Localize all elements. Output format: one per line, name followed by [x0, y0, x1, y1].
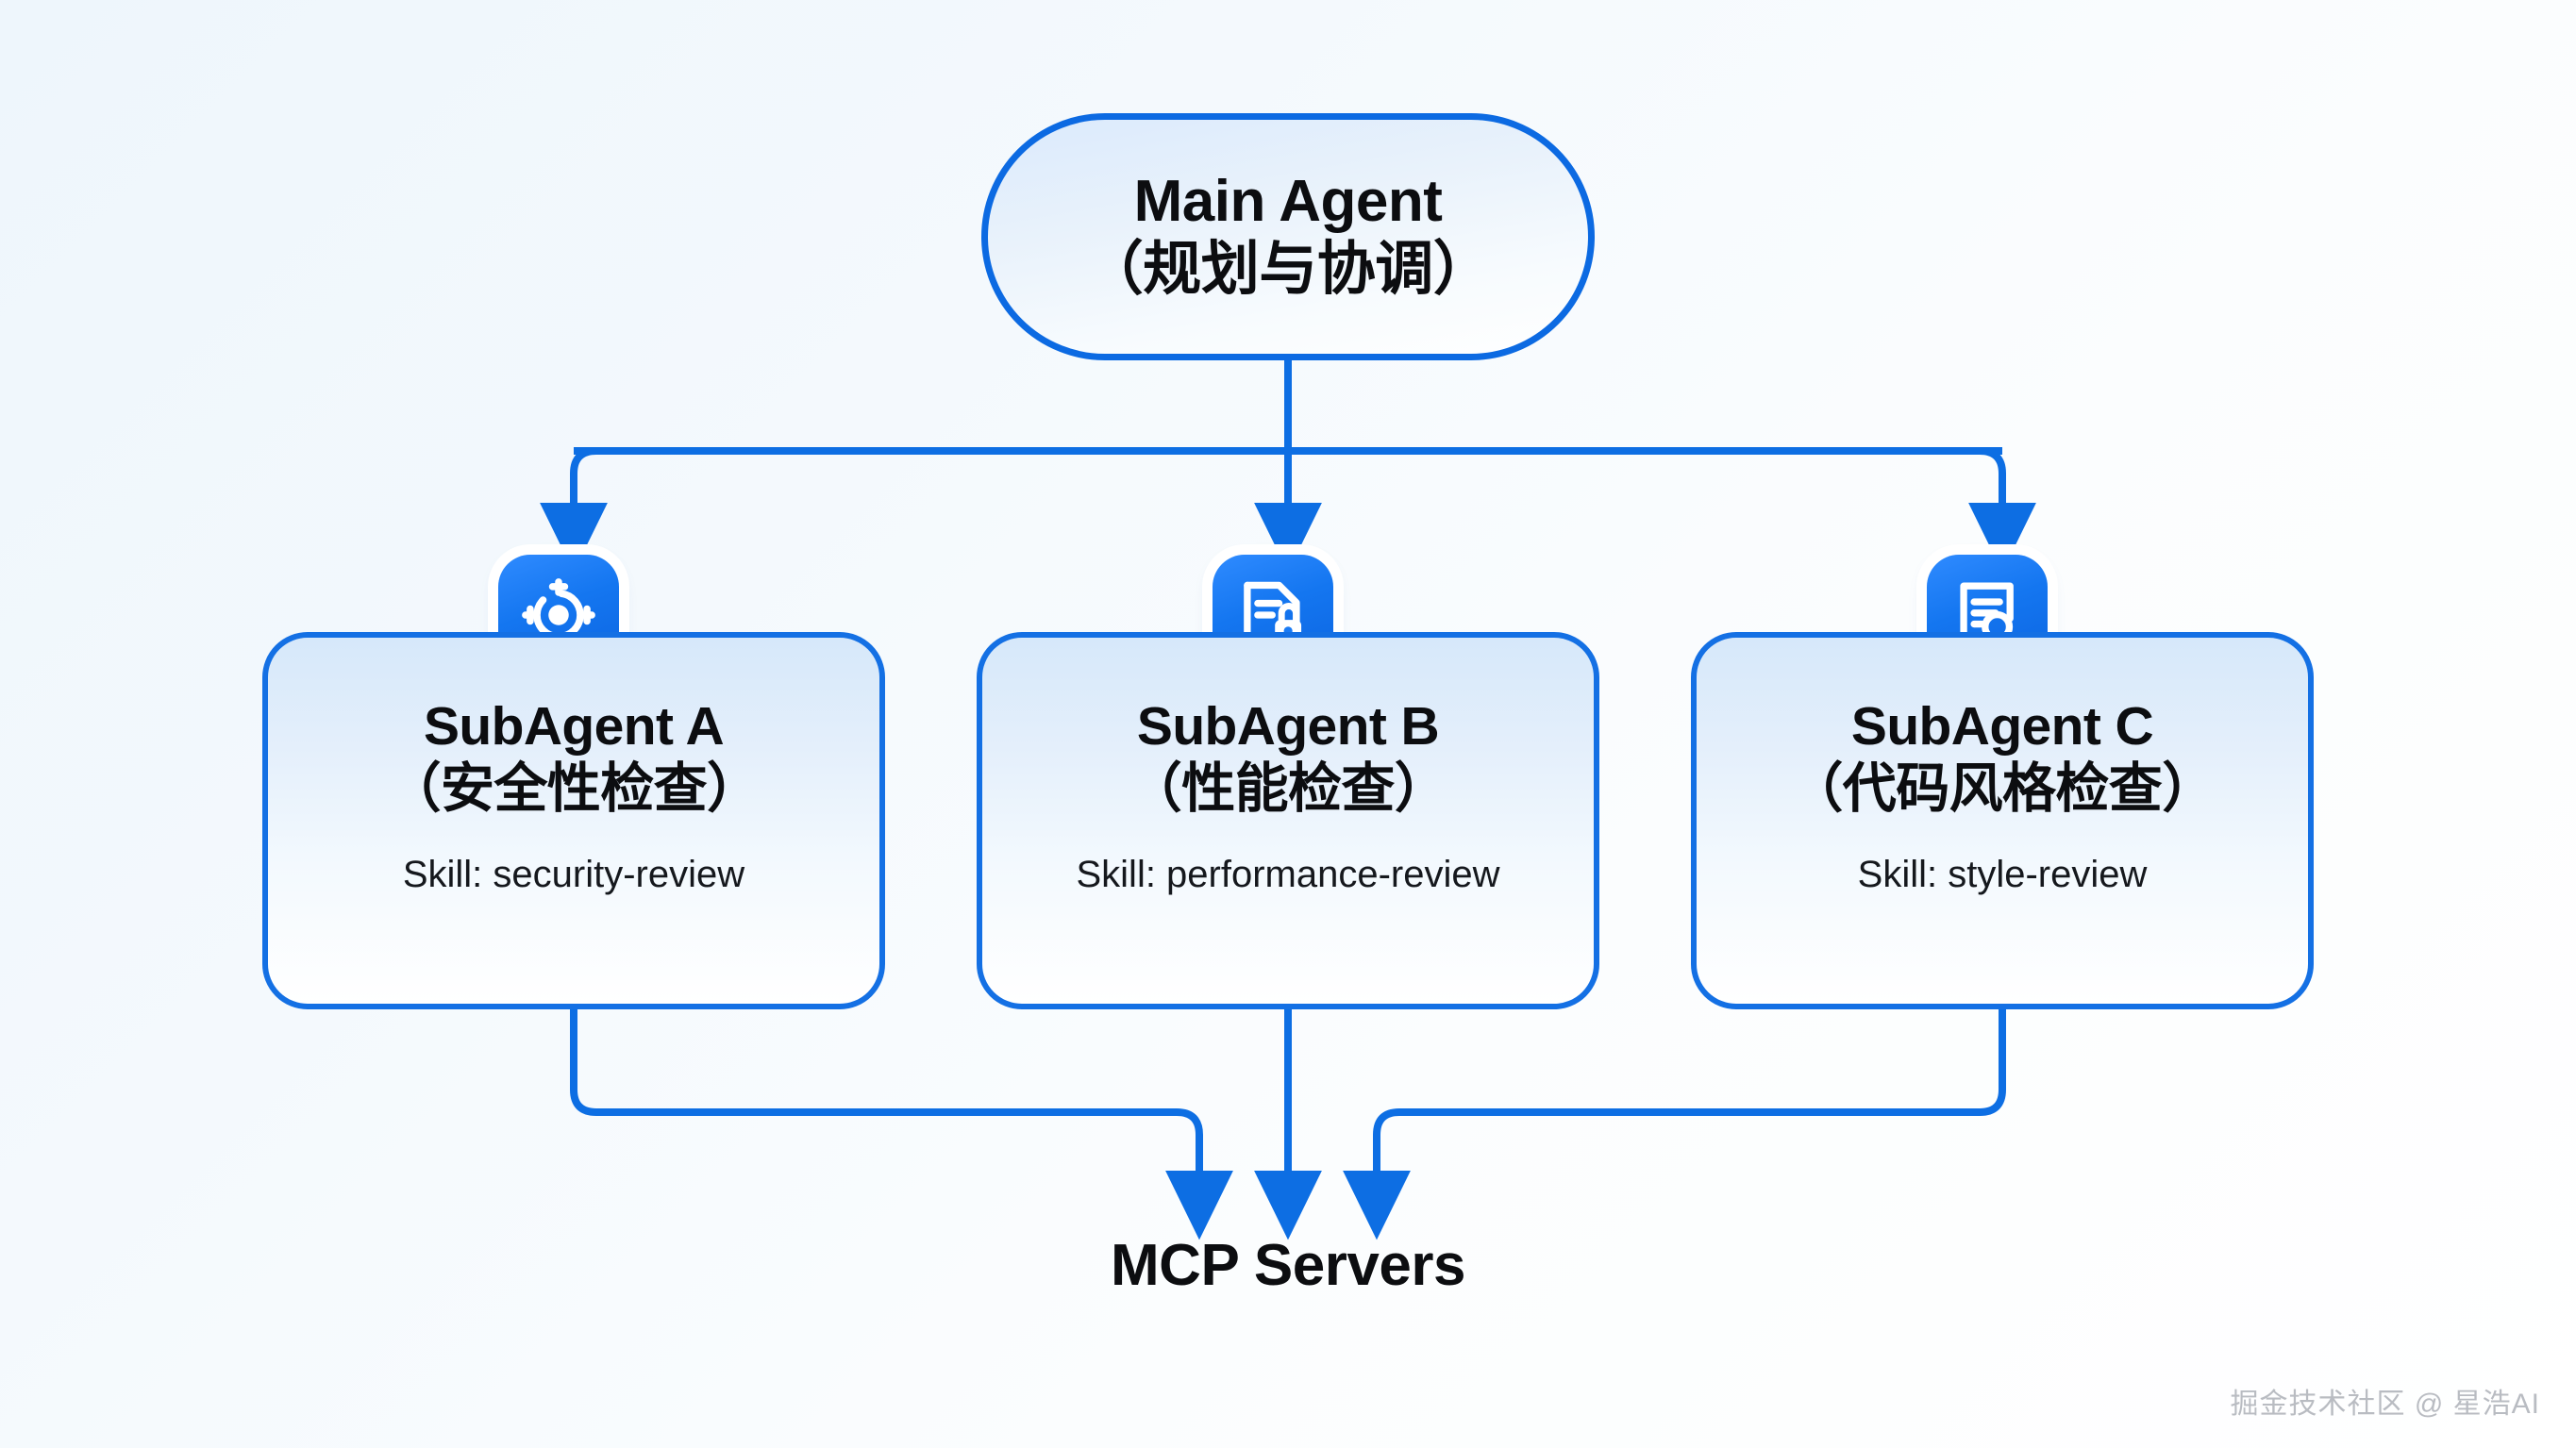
- subagent-b-subtitle: （性能检查）: [1129, 757, 1447, 821]
- watermark: 掘金技术社区 @ 星浩AI: [2231, 1380, 2540, 1422]
- subagent-b-skill: Skill: performance-review: [1076, 854, 1499, 896]
- subagent-c-subtitle: （代码风格检查）: [1789, 757, 2215, 821]
- subagent-card-c[interactable]: SubAgent C （代码风格检查） Skill: style-review: [1691, 632, 2314, 1009]
- subagent-a-skill: Skill: security-review: [403, 854, 744, 896]
- mcp-servers-label: MCP Servers: [0, 1232, 2576, 1299]
- main-agent-node[interactable]: Main Agent （规划与协调）: [981, 113, 1595, 360]
- subagent-card-b[interactable]: SubAgent B （性能检查） Skill: performance-rev…: [977, 632, 1599, 1009]
- subagent-card-a[interactable]: SubAgent A （安全性检查） Skill: security-revie…: [262, 632, 885, 1009]
- wire-a-to-mcp: [574, 1009, 1199, 1158]
- wire-c-to-mcp: [1377, 1009, 2002, 1158]
- wire-bus-corner-right: [1980, 451, 2002, 491]
- subagent-a-title: SubAgent A: [424, 696, 724, 757]
- wire-bus-corner-left: [574, 451, 596, 491]
- main-agent-title: Main Agent: [1134, 169, 1443, 234]
- subagent-c-skill: Skill: style-review: [1858, 854, 2148, 896]
- subagent-a-subtitle: （安全性检查）: [388, 757, 761, 821]
- main-agent-subtitle: （规划与协调）: [1085, 235, 1492, 305]
- subagent-b-title: SubAgent B: [1137, 696, 1439, 757]
- subagent-c-title: SubAgent C: [1851, 696, 2153, 757]
- diagram-canvas: Main Agent （规划与协调） SubAgent A （安全性检查） Sk…: [0, 0, 2576, 1448]
